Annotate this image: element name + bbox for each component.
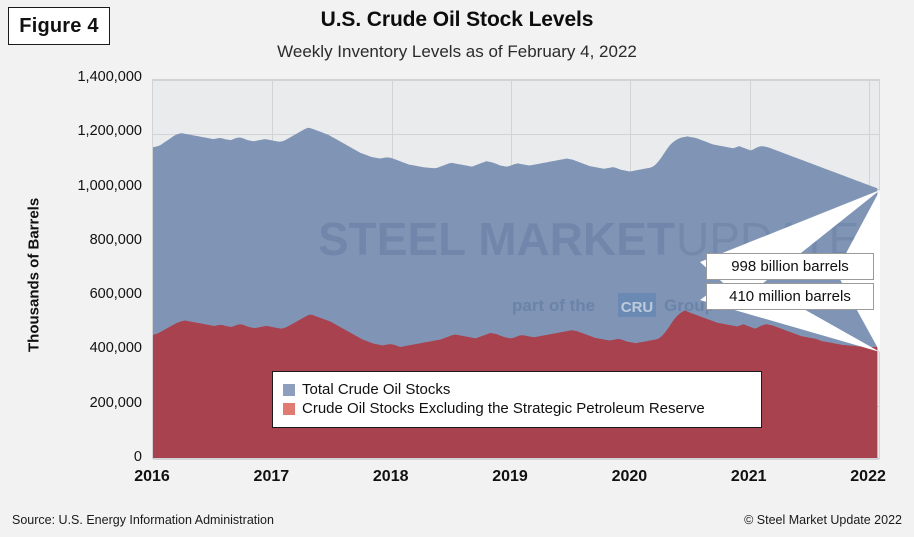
x-tick-label: 2017 — [231, 468, 311, 486]
x-tick-label: 2018 — [351, 468, 431, 486]
chart-legend: Total Crude Oil Stocks Crude Oil Stocks … — [272, 371, 762, 428]
chart-title: U.S. Crude Oil Stock Levels — [0, 8, 914, 32]
legend-item-excluding-spr[interactable]: Crude Oil Stocks Excluding the Strategic… — [283, 400, 751, 417]
chart-subtitle: Weekly Inventory Levels as of February 4… — [0, 42, 914, 62]
legend-item-total[interactable]: Total Crude Oil Stocks — [283, 381, 751, 398]
y-tick-label: 1,200,000 — [22, 123, 142, 139]
legend-label-total: Total Crude Oil Stocks — [302, 381, 450, 398]
y-tick-label: 400,000 — [22, 340, 142, 356]
legend-label-excluding-spr: Crude Oil Stocks Excluding the Strategic… — [302, 400, 705, 417]
y-tick-label: 200,000 — [22, 395, 142, 411]
x-tick-label: 2020 — [589, 468, 669, 486]
x-tick-label: 2021 — [709, 468, 789, 486]
source-note: Source: U.S. Energy Information Administ… — [12, 513, 274, 527]
gridline — [153, 459, 879, 460]
y-tick-label: 1,000,000 — [22, 178, 142, 194]
legend-swatch-excluding-spr-icon — [283, 403, 295, 415]
y-tick-label: 600,000 — [22, 286, 142, 302]
callout-excluding-spr: 410 million barrels — [706, 283, 874, 310]
x-tick-label: 2022 — [828, 468, 908, 486]
y-tick-label: 1,400,000 — [22, 69, 142, 85]
y-tick-label: 800,000 — [22, 232, 142, 248]
y-tick-label: 0 — [22, 449, 142, 465]
x-tick-label: 2016 — [112, 468, 192, 486]
x-tick-label: 2019 — [470, 468, 550, 486]
copyright-note: © Steel Market Update 2022 — [744, 513, 902, 527]
legend-swatch-total-icon — [283, 384, 295, 396]
callout-total-stocks: 998 billion barrels — [706, 253, 874, 280]
